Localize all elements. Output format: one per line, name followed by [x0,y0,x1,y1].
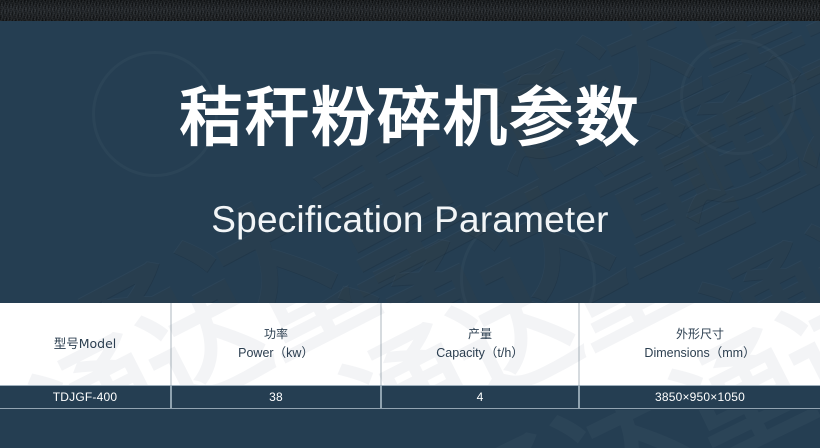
cell-dimensions: 3850×950×1050 [578,386,820,408]
cell-model-value: TDJGF-400 [53,390,117,404]
page-subtitle: Specification Parameter [0,199,820,241]
specification-banner-page: 通达重工 通达重工 通达重工 通达重工 通达重工 秸秆粉碎机参数 Specifi… [0,0,820,448]
cell-power: 38 [170,386,380,408]
column-header-capacity-cn: 产量 [468,326,492,343]
bottom-filler: 通达重工 [0,410,820,448]
table-row: TDJGF-400 38 4 3850×950×1050 [0,385,820,409]
column-header-capacity-en: Capacity（t/h） [436,344,524,362]
column-header-capacity: 产量 Capacity（t/h） [380,303,578,385]
column-header-power-cn: 功率 [264,326,288,343]
cell-model: TDJGF-400 [0,386,170,408]
cell-capacity: 4 [380,386,578,408]
page-title: 秸秆粉碎机参数 [0,83,820,157]
top-texture-strip [0,0,820,21]
specification-table: 通达重工 通达重工 通达重工 型号Model 功率 Power（kw） 产量 C… [0,303,820,409]
column-header-power: 功率 Power（kw） [170,303,380,385]
column-header-dimensions-en: Dimensions（mm） [644,344,755,362]
cell-capacity-value: 4 [477,390,484,404]
background-watermark: 通达重工 [405,410,820,448]
background-watermark: 通达重工 [30,39,630,303]
table-header-row: 通达重工 通达重工 通达重工 型号Model 功率 Power（kw） 产量 C… [0,303,820,385]
banner-section: 通达重工 通达重工 通达重工 通达重工 通达重工 秸秆粉碎机参数 Specifi… [0,21,820,303]
column-header-model-label: 型号Model [54,335,117,353]
column-header-dimensions: 外形尺寸 Dimensions（mm） [578,303,820,385]
column-header-model: 型号Model [0,303,170,385]
cell-power-value: 38 [269,390,283,404]
column-header-power-en: Power（kw） [238,344,314,362]
column-header-dimensions-cn: 外形尺寸 [676,326,724,343]
cell-dimensions-value: 3850×950×1050 [655,390,745,404]
